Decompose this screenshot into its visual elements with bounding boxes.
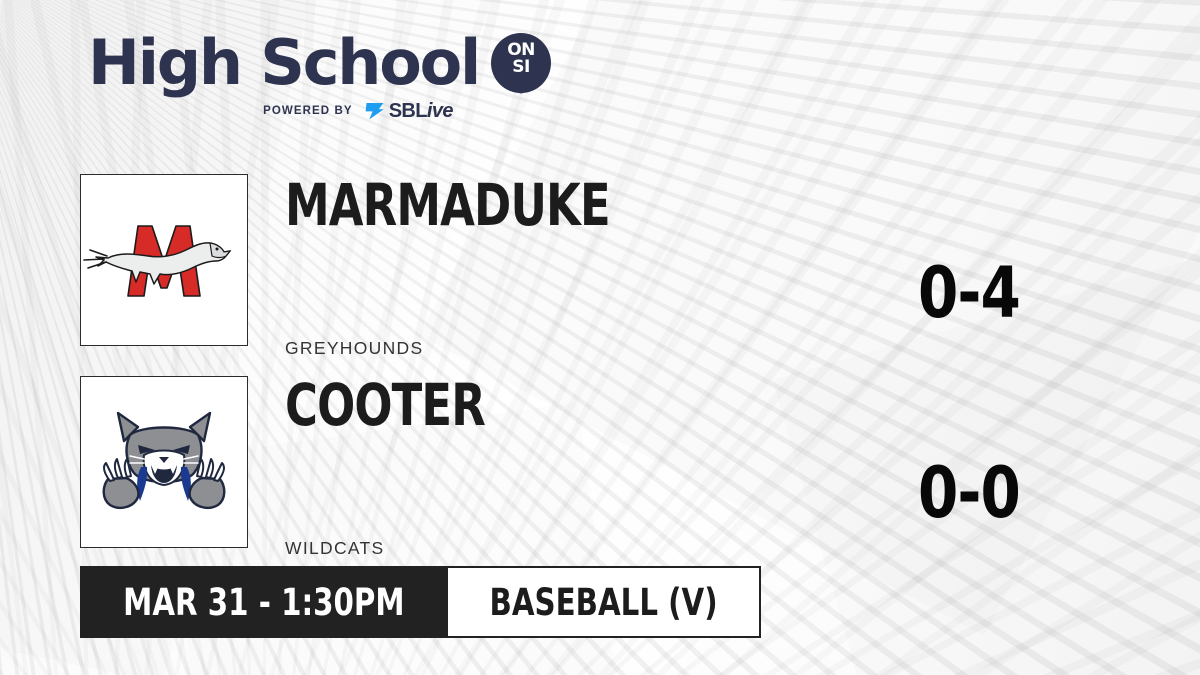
game-preview-graphic: High School ON SI POWERED BY SBLive [0,0,1200,675]
pin-label-bottom: SI [491,59,551,76]
team-logo-box [80,174,248,346]
cooter-wildcats-logo [81,377,247,547]
brand-title-row: High School ON SI [88,32,518,94]
powered-by-row: POWERED BY SBLive [198,101,518,121]
game-sport-text: BASEBALL (V) [489,584,717,621]
team-record: 0-4 [918,258,1020,328]
game-datetime-text: MAR 31 - 1:30PM [123,584,404,621]
partner-name-main: SBL [389,100,427,122]
team-record: 0-0 [918,458,1020,528]
team-logo-box [80,376,248,548]
team-mascot: WILDCATS [285,538,385,559]
map-pin-icon: ON SI [491,33,551,93]
marmaduke-greyhounds-logo [81,175,247,345]
team-name: MARMADUKE [285,176,610,234]
background-shard [419,0,1200,636]
powered-by-label: POWERED BY [263,105,353,117]
map-pin-label: ON SI [491,42,551,76]
partner-name-italic: ive [427,100,453,122]
team-mascot: GREYHOUNDS [285,338,423,359]
page-title: High School [88,32,479,94]
game-sport-chip: BASEBALL (V) [448,566,761,638]
lightning-bolt-icon [362,103,384,120]
game-info-bar: MAR 31 - 1:30PM BASEBALL (V) [80,566,761,638]
brand-header: High School ON SI POWERED BY SBLive [88,32,518,121]
game-datetime-chip: MAR 31 - 1:30PM [80,566,448,638]
partner-logo-text: SBLive [389,101,453,121]
team-name: COOTER [285,376,485,434]
